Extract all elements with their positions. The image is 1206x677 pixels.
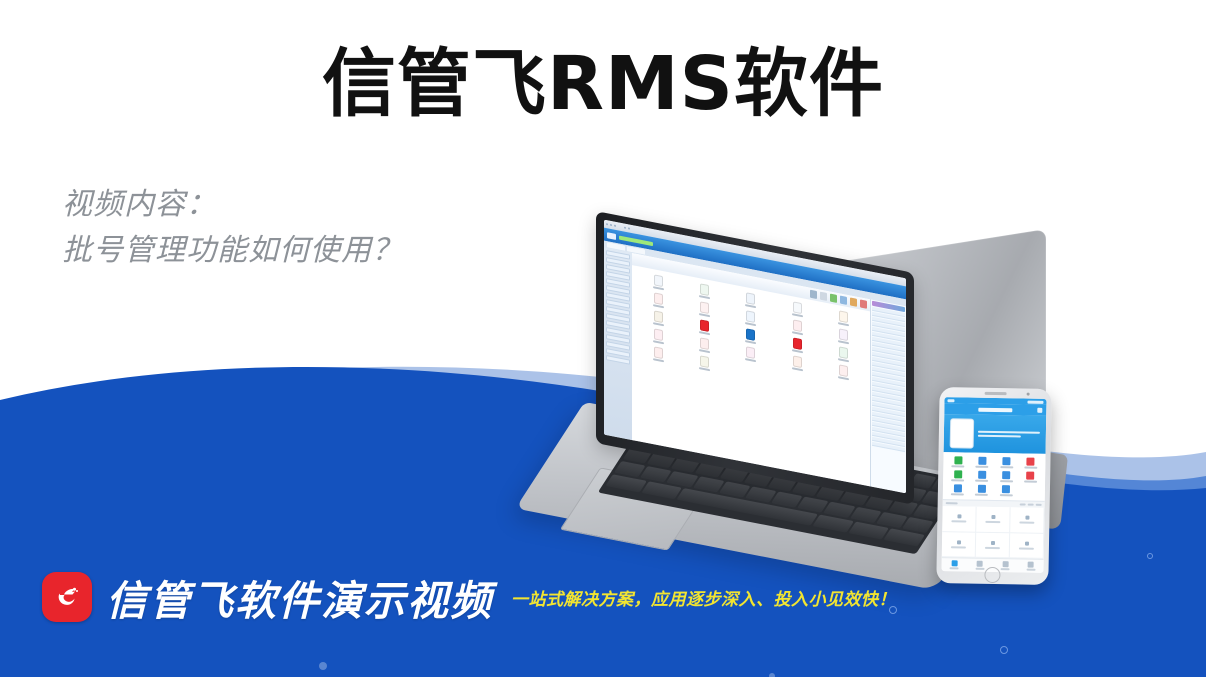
app-icon-glyph <box>746 310 755 323</box>
app-icon-glyph <box>839 310 848 323</box>
phone-app-icon-glyph <box>954 484 962 492</box>
app-icon-glyph <box>654 310 663 323</box>
phone-app-icon-glyph <box>978 457 986 465</box>
phone-app-icon-glyph <box>978 485 986 493</box>
phone-screen <box>942 397 1047 573</box>
phone-app-icon-label <box>976 466 989 468</box>
app-icon-glyph <box>654 328 663 341</box>
app-icon-glyph <box>839 364 848 377</box>
phone-app-icon[interactable] <box>995 457 1018 468</box>
phone-app-icon-label <box>1024 481 1037 483</box>
brand-lockup: 信管飞软件演示视频 一站式解决方案，应用逐步深入、投入小见效快！ <box>42 567 896 627</box>
phone-app-icon-glyph <box>978 471 986 479</box>
app-icon-label <box>838 358 849 362</box>
brand-name: 信管飞软件演示视频 <box>106 567 493 627</box>
phone-app-icon-glyph <box>1002 457 1010 465</box>
device-mockup-group <box>556 238 1206 598</box>
bottom-banner: 信管飞软件演示视频 一站式解决方案，应用逐步深入、投入小见效快！ <box>0 567 1206 677</box>
app-icon-label <box>699 295 710 299</box>
phone-banner-image <box>950 418 975 448</box>
app-icon-label <box>792 313 803 317</box>
app-icon-label <box>745 322 756 326</box>
app-icon-glyph <box>746 328 755 341</box>
phone-icon-grid[interactable] <box>943 452 1046 501</box>
app-icon-label <box>745 340 756 344</box>
phone-app-icon-label <box>951 465 964 467</box>
phone-camera-icon <box>1027 393 1030 396</box>
phone-app-icon[interactable] <box>946 470 969 481</box>
phone-app-icon-glyph <box>954 470 962 478</box>
app-icon-glyph <box>793 337 802 350</box>
phone-app-icon[interactable] <box>995 471 1018 482</box>
phone-app-icon[interactable] <box>1019 471 1042 482</box>
app-icon-label <box>745 304 756 308</box>
phone-banner-text <box>978 431 1040 438</box>
app-logo-icon <box>607 232 616 240</box>
phone-app-icon[interactable] <box>970 485 993 496</box>
phone-app-icon-glyph <box>1027 458 1035 466</box>
phone-app-icon-label <box>951 493 964 495</box>
phone-app-icon[interactable] <box>970 471 993 482</box>
phone-hero-banner <box>944 414 1047 454</box>
app-icon-glyph <box>654 274 663 287</box>
decor-dot <box>319 662 327 670</box>
app-icon-glyph <box>746 346 755 359</box>
app-icon-label <box>838 322 849 326</box>
phone-app-icon-label <box>1000 480 1013 482</box>
app-icon-label <box>838 376 849 380</box>
app-icon-glyph <box>700 301 709 314</box>
dove-logo-icon <box>42 572 92 622</box>
page-title: 信管飞RMS软件 <box>0 44 1206 125</box>
phone-device <box>936 387 1051 585</box>
phone-app-icon-glyph <box>1002 485 1010 493</box>
phone-app-icon-label <box>975 480 988 482</box>
app-right-panel[interactable] <box>870 299 906 493</box>
decor-dot <box>1000 646 1008 654</box>
decor-dot <box>769 673 775 677</box>
phone-app-icon[interactable] <box>946 484 969 495</box>
phone-stat-cell[interactable] <box>976 532 1010 558</box>
phone-app-icon-glyph <box>1026 472 1034 480</box>
phone-app-title <box>978 407 1012 412</box>
app-icon-label <box>699 349 710 353</box>
subtitle-label: 视频内容： <box>62 182 403 228</box>
phone-app-icon-glyph <box>954 456 962 464</box>
app-icon-glyph <box>839 328 848 341</box>
phone-app-icon-label <box>1000 466 1013 468</box>
phone-app-header <box>944 403 1046 416</box>
decor-dot <box>1147 553 1153 559</box>
phone-app-icon[interactable] <box>946 456 969 467</box>
phone-app-icon[interactable] <box>1019 457 1042 468</box>
phone-app-icon-glyph <box>1002 471 1010 479</box>
app-icon-glyph <box>700 319 709 332</box>
phone-app-icon-label <box>975 494 988 496</box>
hamburger-icon[interactable] <box>1037 408 1042 413</box>
app-icon-glyph <box>700 355 709 368</box>
app-icon-glyph <box>700 283 709 296</box>
app-icon-glyph <box>654 292 663 305</box>
app-icon-label <box>699 331 710 335</box>
decor-dot <box>889 606 897 614</box>
phone-app-icon-label <box>999 494 1012 496</box>
app-icon-glyph <box>839 346 848 359</box>
app-icon-label <box>699 313 710 317</box>
phone-stat-cell[interactable] <box>1010 507 1044 533</box>
app-icon-label <box>792 331 803 335</box>
app-icon-label <box>792 349 803 353</box>
phone-stats-grid[interactable] <box>942 506 1045 559</box>
phone-stat-cell[interactable] <box>1010 533 1044 559</box>
app-icon-glyph <box>700 337 709 350</box>
phone-app-icon-label <box>951 479 964 481</box>
app-icon-label <box>792 367 803 371</box>
app-icon-glyph <box>793 319 802 332</box>
app-icon-glyph <box>793 355 802 368</box>
app-icon-glyph <box>746 292 755 305</box>
phone-stat-cell[interactable] <box>942 532 976 558</box>
app-icon-glyph <box>654 346 663 359</box>
app-icon-label <box>699 367 710 371</box>
app-icon-label <box>838 340 849 344</box>
phone-stat-cell[interactable] <box>976 507 1010 533</box>
brand-tagline: 一站式解决方案，应用逐步深入、投入小见效快！ <box>511 585 896 610</box>
phone-app-icon[interactable] <box>994 485 1017 496</box>
app-icon-label <box>745 358 756 362</box>
phone-stat-cell[interactable] <box>942 506 976 532</box>
slide-canvas: 信管飞RMS软件 视频内容： 批号管理功能如何使用？ <box>0 0 1206 677</box>
phone-app-icon-label <box>1024 467 1037 469</box>
phone-speaker <box>985 392 1007 395</box>
app-icon-glyph <box>793 301 802 314</box>
app-sidebar[interactable] <box>604 248 632 440</box>
phone-app-icon[interactable] <box>971 457 994 468</box>
subtitle-block: 视频内容： 批号管理功能如何使用？ <box>62 182 403 273</box>
subtitle-topic: 批号管理功能如何使用？ <box>62 228 403 274</box>
